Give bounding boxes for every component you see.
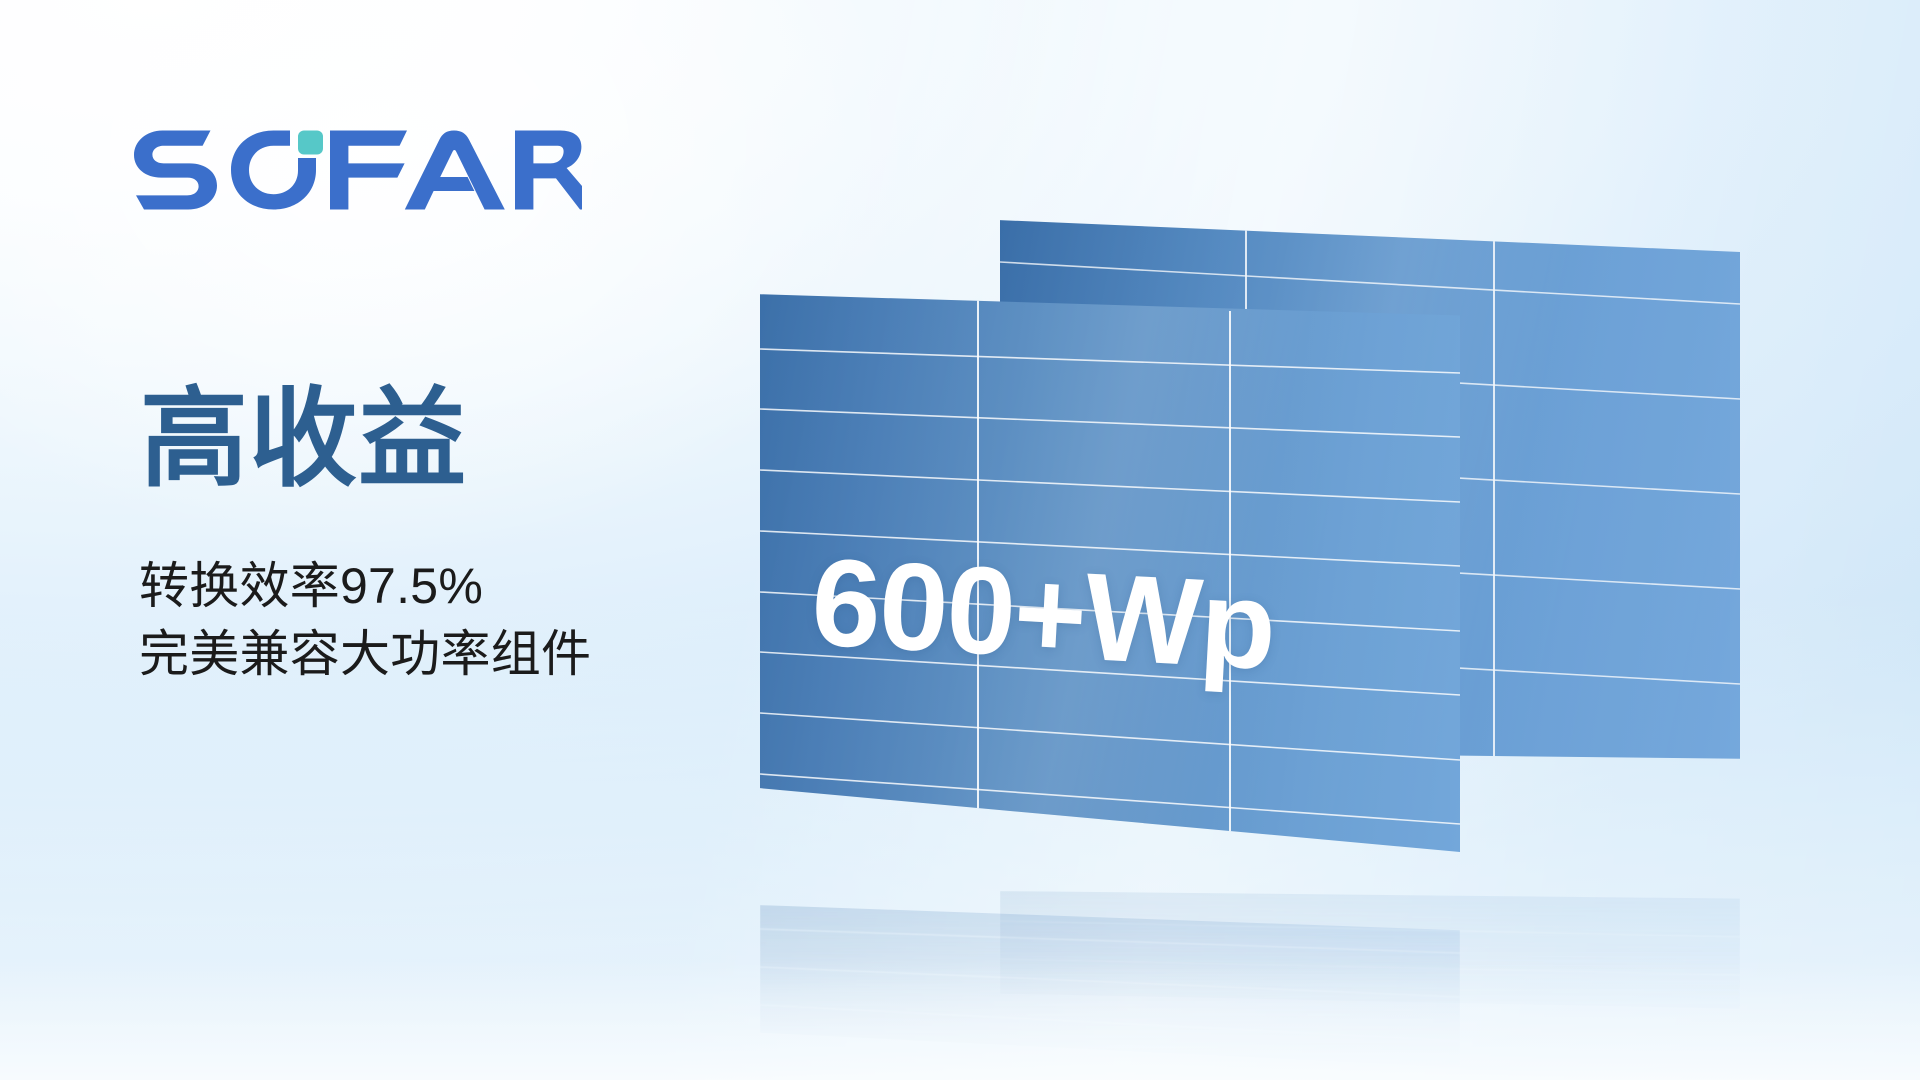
solar-panel-group: 600+Wp — [760, 210, 1760, 910]
subtitle-line-1: 转换效率97.5% — [139, 552, 591, 620]
solar-panel-front: 600+Wp — [760, 292, 1460, 852]
subtitle-block: 转换效率97.5% 完美兼容大功率组件 — [139, 552, 591, 688]
logo-letter-A — [405, 131, 505, 210]
logo-letter-R — [515, 131, 582, 210]
logo-o-accent-square — [298, 131, 323, 155]
logo-letter-S — [134, 131, 217, 210]
panel-front-grid — [760, 292, 1460, 852]
banner-stage: 高收益 转换效率97.5% 完美兼容大功率组件 — [0, 0, 1920, 1080]
page-title: 高收益 — [140, 382, 467, 496]
logo-letter-F — [330, 131, 407, 210]
sofar-logo[interactable] — [132, 128, 584, 212]
subtitle-line-2: 完美兼容大功率组件 — [139, 620, 591, 688]
